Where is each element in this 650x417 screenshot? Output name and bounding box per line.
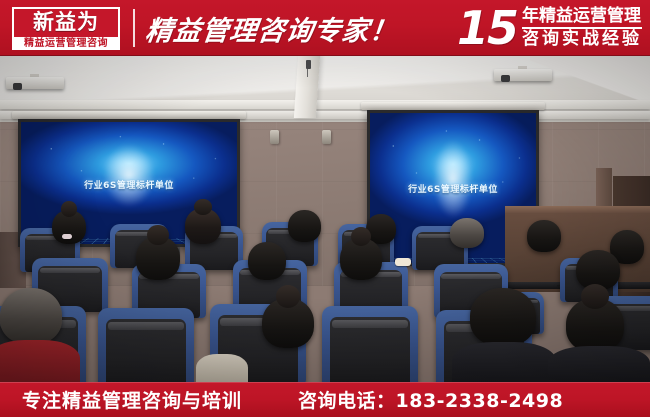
screen-roller [12,111,246,119]
speaker-icon [270,130,279,144]
audience-shoulders [0,340,80,382]
audience-head [185,208,221,244]
audience-head [470,288,536,346]
screen-title-text: 行业6S管理标杆单位 [370,182,536,195]
screen-roller [361,102,545,110]
camera-icon [306,60,311,69]
hair-clip [62,234,72,239]
audience-head [262,298,314,348]
projector-icon [6,74,64,89]
audience-shoulders [452,342,556,382]
experience-badge: 15 年精益运营管理 咨询实战经验 [457,7,642,49]
brand-logo[interactable]: 新益为 精益运营管理咨询 [12,7,120,50]
header-divider [133,9,135,47]
audience-area [0,236,650,382]
seat [322,306,418,382]
header-banner: 新益为 精益运营管理咨询 精益管理咨询专家！ 15 年精益运营管理 咨询实战经验 [0,0,650,56]
audience-head [248,242,286,280]
projector-body [494,69,552,81]
experience-number: 15 [457,8,517,48]
poster-root: 新益为 精益运营管理咨询 精益管理咨询专家！ 15 年精益运营管理 咨询实战经验 [0,0,650,417]
experience-line-1: 年精益运营管理 [522,7,642,26]
audience-head [566,298,624,352]
projector-lens [13,83,22,90]
hair-clip [395,258,411,266]
audience-shoulders [548,346,650,382]
ceiling-beam-upper [0,100,650,109]
audience-head [136,236,180,280]
footer-phone[interactable]: 咨询电话：183-2338-2498 [298,386,563,413]
experience-line-2: 咨询实战经验 [522,30,642,49]
experience-text: 年精益运营管理 咨询实战经验 [522,7,642,49]
audience-head [0,288,62,344]
audience-head [527,220,561,252]
podium-top [505,206,650,213]
projector-body [6,77,64,89]
brand-tagline: 精益运营管理咨询 [12,37,120,50]
audience-head [450,218,484,248]
audience-shoulders [196,354,248,382]
scene-photo: 行业6S管理标杆单位 新益为 行业6S管理标杆单位 新益为 [0,56,650,382]
audience-head [288,210,321,242]
footer-slogan: 专注精益管理咨询与培训 [22,386,242,413]
screen-title-text: 行业6S管理标杆单位 [21,178,237,191]
projector-lens [501,75,510,82]
projector-icon [494,66,552,81]
brand-name: 新益为 [33,12,99,33]
audience-head [340,238,382,280]
footer-banner: 专注精益管理咨询与培训 咨询电话：183-2338-2498 [0,382,650,417]
brand-logo-icon: 新益为 [12,7,120,37]
speaker-icon [322,130,331,144]
seat [98,308,194,382]
header-slogan: 精益管理咨询专家！ [144,9,401,48]
